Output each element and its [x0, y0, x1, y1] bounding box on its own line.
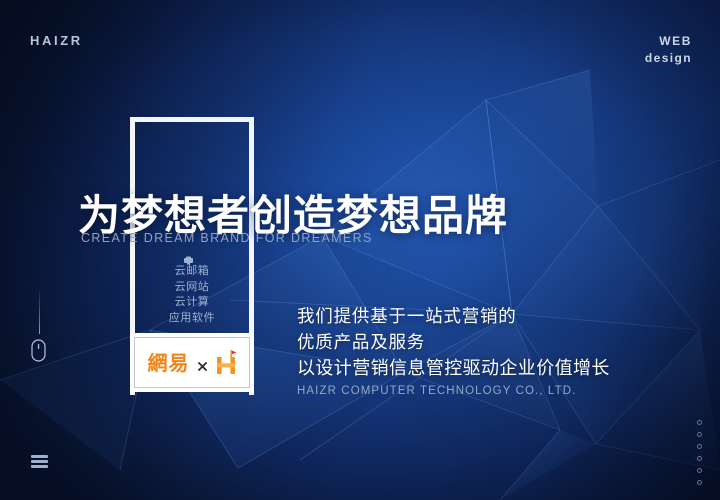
- service-list: 云邮箱 云网站 云计算 应用软件: [130, 264, 254, 326]
- frame-top-bar: [130, 117, 254, 122]
- copy-line-2: 优质产品及服务: [297, 329, 610, 355]
- service-list-item[interactable]: 应用软件: [130, 311, 254, 327]
- corner-label-line1: WEB: [645, 33, 692, 50]
- slide-pagination[interactable]: [697, 420, 702, 485]
- copy-line-3: 以设计营销信息管控驱动企业价值增长: [297, 355, 610, 381]
- cloud-marker-icon: [183, 252, 194, 261]
- service-list-item[interactable]: 云网站: [130, 280, 254, 296]
- scroll-guide-line: [39, 288, 40, 334]
- marketing-copy: 我们提供基于一站式营销的 优质产品及服务 以设计营销信息管控驱动企业价值增长 H…: [297, 303, 610, 397]
- service-list-item[interactable]: 云计算: [130, 295, 254, 311]
- hamburger-bar: [31, 455, 48, 458]
- hamburger-bar: [31, 465, 48, 468]
- pagination-dot[interactable]: [697, 420, 702, 425]
- multiply-icon: [198, 358, 207, 367]
- slide-canvas: HAIZR WEB design 为梦想者创造梦想品牌 CREATE DREAM…: [0, 0, 720, 500]
- company-name-en: HAIZR COMPUTER TECHNOLOGY CO., LTD.: [297, 385, 610, 397]
- haizr-h-icon: [215, 350, 237, 376]
- hamburger-menu-icon[interactable]: [31, 455, 48, 468]
- pagination-dot[interactable]: [697, 480, 702, 485]
- pagination-dot[interactable]: [697, 444, 702, 449]
- hamburger-bar: [31, 460, 48, 463]
- partner-logo-card: 網易: [130, 333, 254, 392]
- corner-label-line2: design: [645, 50, 692, 67]
- background-vignette: [0, 0, 720, 500]
- mouse-scroll-icon[interactable]: [31, 339, 46, 362]
- partner-logo-text: 網易: [148, 353, 190, 373]
- pagination-dot[interactable]: [697, 468, 702, 473]
- pagination-dot[interactable]: [697, 432, 702, 437]
- brand-logo[interactable]: HAIZR: [30, 33, 83, 48]
- copy-line-1: 我们提供基于一站式营销的: [297, 303, 610, 329]
- service-list-item[interactable]: 云邮箱: [130, 264, 254, 280]
- pagination-dot[interactable]: [697, 456, 702, 461]
- corner-label: WEB design: [645, 33, 692, 66]
- page-subtitle: CREATE DREAM BRAND FOR DREAMERS: [81, 231, 373, 245]
